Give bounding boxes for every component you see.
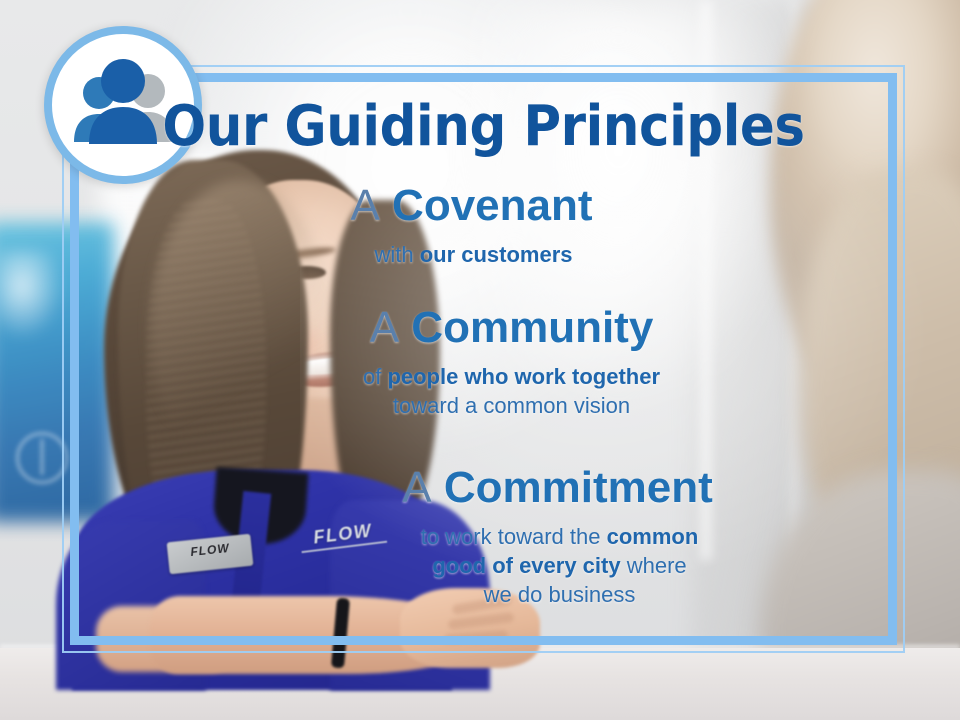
principle-block-community: A Community of people who work together … <box>70 305 897 420</box>
principle-text: to work toward the <box>421 524 607 549</box>
principle-block-covenant: A Covenant with our customers <box>70 183 897 269</box>
principle-text-emphasis: common <box>607 524 699 549</box>
principle-line: we do business <box>146 580 960 609</box>
principle-description: with our customers <box>60 240 887 269</box>
principle-headline: A Covenant <box>58 183 885 230</box>
principle-article: A <box>402 463 431 512</box>
car-badge-logo <box>16 432 68 484</box>
principle-headline: A Community <box>98 305 925 352</box>
text-content: Our Guiding Principles A Covenant with o… <box>70 73 897 645</box>
principle-article: A <box>350 181 379 230</box>
principle-text-emphasis: our customers <box>420 242 573 267</box>
page-title: Our Guiding Principles <box>103 99 864 155</box>
principle-text: where <box>621 553 687 578</box>
principle-text: with <box>374 242 419 267</box>
principle-line: with our customers <box>60 240 887 269</box>
principle-headline: A Commitment <box>144 465 960 512</box>
principle-description: of people who work together toward a com… <box>98 362 925 420</box>
principle-description: to work toward the common good of every … <box>146 522 960 609</box>
principle-line: good of every city where <box>146 551 960 580</box>
principle-text-emphasis: good of every city <box>432 553 620 578</box>
principle-keyword: Community <box>411 303 653 352</box>
principle-line: toward a common vision <box>98 391 925 420</box>
principle-keyword: Commitment <box>444 463 713 512</box>
principle-article: A <box>370 303 399 352</box>
principle-line: to work toward the common <box>146 522 960 551</box>
principle-block-commitment: A Commitment to work toward the common g… <box>70 465 897 609</box>
principle-line: of people who work together <box>98 362 925 391</box>
principle-text-emphasis: people who work together <box>387 364 660 389</box>
principle-keyword: Covenant <box>392 181 592 230</box>
principle-text: of <box>363 364 387 389</box>
principle-text: toward a common vision <box>393 393 630 418</box>
graphic-canvas: FLOW FLOW Our Guiding Principles <box>0 0 960 720</box>
principle-text: we do business <box>484 582 636 607</box>
showroom-car-highlight <box>0 250 64 340</box>
